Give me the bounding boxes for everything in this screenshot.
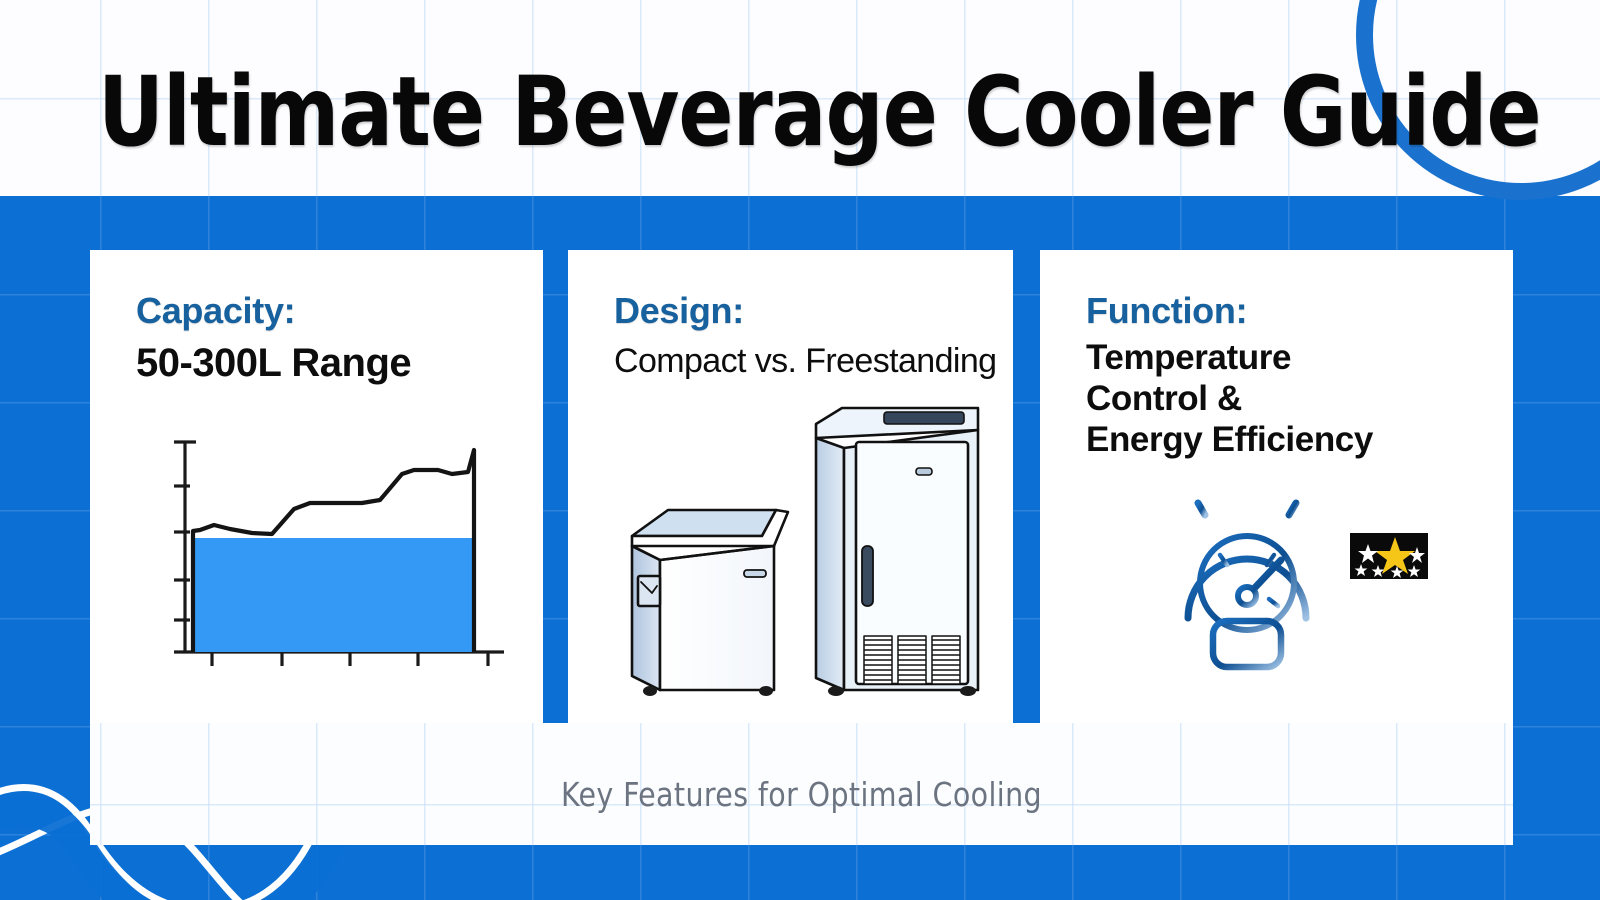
capacity-area-chart bbox=[152, 434, 512, 684]
footer-caption-panel: Key Features for Optimal Cooling bbox=[90, 723, 1513, 845]
card-capacity-subtitle: 50-300L Range bbox=[136, 340, 411, 387]
card-capacity[interactable]: Capacity: 50-300L Range bbox=[90, 250, 543, 723]
card-function[interactable]: Function: Temperature Control & Energy E… bbox=[1040, 250, 1513, 723]
compact-cooler-unit bbox=[632, 510, 788, 696]
card-design-subtitle: Compact vs. Freestanding bbox=[614, 342, 996, 382]
cooler-units-illustration bbox=[616, 390, 1013, 700]
page-title: Ultimate Beverage Cooler Guide bbox=[98, 56, 1541, 168]
title-strip: Ultimate Beverage Cooler Guide bbox=[0, 0, 1600, 196]
card-capacity-kicker: Capacity: bbox=[136, 290, 295, 332]
card-design-kicker: Design: bbox=[614, 290, 744, 332]
card-function-subtitle-line-2: Control & bbox=[1086, 379, 1373, 420]
card-design[interactable]: Design: Compact vs. Freestanding bbox=[568, 250, 1013, 723]
freestanding-cooler-unit bbox=[816, 408, 978, 696]
thermostat-gauge-icon bbox=[1158, 478, 1348, 673]
card-function-subtitle: Temperature Control & Energy Efficiency bbox=[1086, 338, 1373, 461]
footer-caption-text: Key Features for Optimal Cooling bbox=[118, 775, 1484, 814]
poster-canvas: Ultimate Beverage Cooler Guide Key Featu… bbox=[0, 0, 1600, 900]
card-function-subtitle-line-1: Temperature bbox=[1086, 338, 1373, 379]
card-function-subtitle-line-3: Energy Efficiency bbox=[1086, 420, 1373, 461]
energy-star-rating-badge bbox=[1350, 533, 1428, 579]
card-function-kicker: Function: bbox=[1086, 290, 1247, 332]
